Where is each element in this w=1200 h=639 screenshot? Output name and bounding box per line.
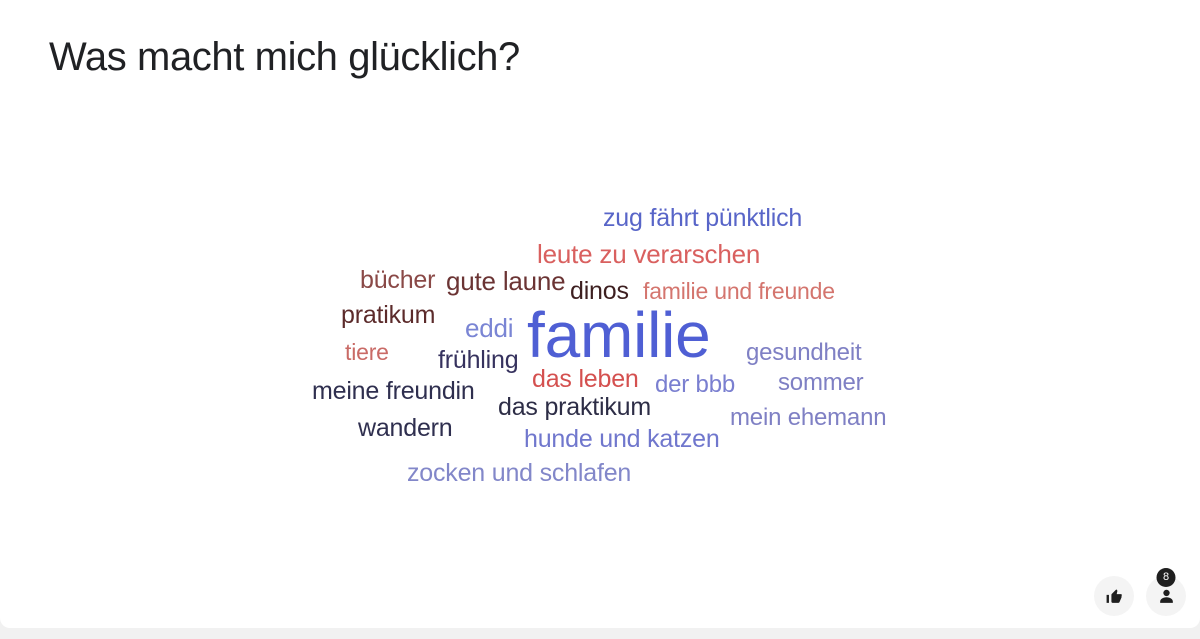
person-icon — [1157, 587, 1176, 606]
word-cloud-item: wandern — [358, 416, 453, 441]
word-cloud-item: gesundheit — [746, 341, 861, 365]
word-cloud: zug fährt pünktlichleute zu verarschenbü… — [300, 195, 920, 505]
word-cloud-item: bücher — [360, 268, 435, 293]
word-cloud-item: mein ehemann — [730, 406, 886, 430]
participants-button[interactable]: 8 — [1146, 576, 1186, 616]
word-cloud-item: das praktikum — [498, 395, 651, 420]
word-cloud-item: frühling — [438, 348, 518, 373]
thumbs-up-icon — [1105, 587, 1124, 606]
word-cloud-item: leute zu verarschen — [537, 241, 760, 267]
word-cloud-item: gute laune — [446, 268, 565, 294]
participant-count-badge: 8 — [1157, 568, 1176, 587]
word-cloud-item: hunde und katzen — [524, 427, 720, 452]
word-cloud-item: zug fährt pünktlich — [603, 206, 802, 231]
page-title: Was macht mich glücklich? — [49, 35, 520, 80]
word-cloud-item: der bbb — [655, 373, 735, 397]
word-cloud-item: meine freundin — [312, 379, 475, 404]
slide-card: Was macht mich glücklich? zug fährt pünk… — [0, 0, 1200, 628]
word-cloud-item: eddi — [465, 315, 513, 341]
word-cloud-item: tiere — [345, 341, 389, 364]
word-cloud-item: familie — [527, 303, 711, 367]
word-cloud-item: das leben — [532, 367, 639, 392]
slide-footer-toolbar: 8 — [1094, 576, 1186, 616]
word-cloud-item: zocken und schlafen — [407, 461, 631, 486]
word-cloud-item: pratikum — [341, 303, 435, 328]
word-cloud-item: sommer — [778, 371, 863, 395]
like-button[interactable] — [1094, 576, 1134, 616]
